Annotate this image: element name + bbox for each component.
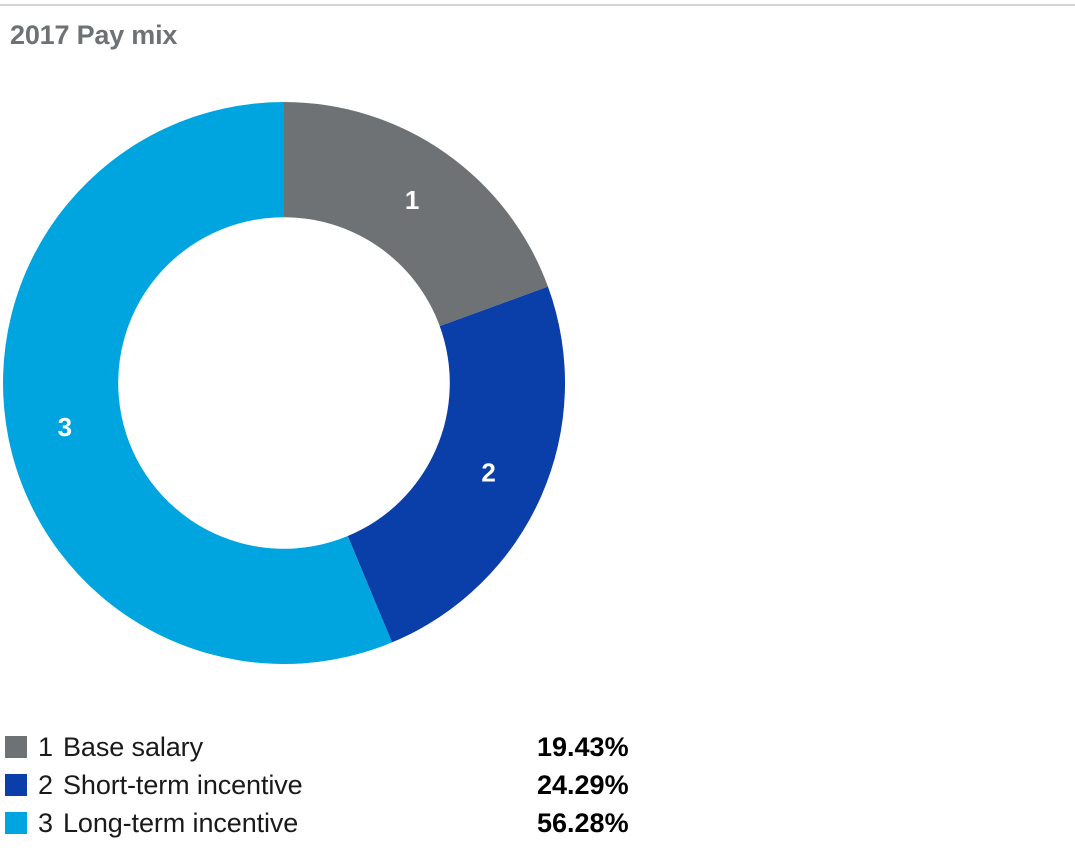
donut-slice-label-1: 1	[405, 185, 419, 215]
legend-value-long-term-incentive: 56.28%	[537, 804, 629, 842]
legend-swatch-long-term-incentive	[5, 812, 27, 834]
legend-index-2: 2	[38, 766, 53, 804]
legend-label-base-salary: Base salary	[63, 728, 203, 766]
legend-swatch-base-salary	[5, 736, 27, 758]
donut-slice-short-term-incentive[interactable]	[348, 287, 565, 643]
donut-slice-label-3: 3	[58, 412, 72, 442]
legend-label-long-term-incentive: Long-term incentive	[63, 804, 298, 842]
legend-label-short-term-incentive: Short-term incentive	[63, 766, 303, 804]
page-title: 2017 Pay mix	[10, 20, 177, 51]
legend-value-base-salary: 19.43%	[537, 728, 629, 766]
legend-swatch-short-term-incentive	[5, 774, 27, 796]
donut-slice-label-2: 2	[481, 458, 495, 488]
header-divider	[0, 4, 1075, 6]
donut-slices	[3, 102, 565, 664]
legend-index-3: 3	[38, 804, 53, 842]
pay-mix-donut-chart: 1 2 3	[3, 102, 565, 664]
legend-item-long-term-incentive[interactable]: 3 Long-term incentive 56.28%	[5, 804, 705, 842]
donut-svg: 1 2 3	[3, 102, 565, 664]
chart-legend: 1 Base salary 19.43% 2 Short-term incent…	[5, 728, 705, 842]
legend-item-short-term-incentive[interactable]: 2 Short-term incentive 24.29%	[5, 766, 705, 804]
legend-value-short-term-incentive: 24.29%	[537, 766, 629, 804]
legend-index-1: 1	[38, 728, 53, 766]
legend-item-base-salary[interactable]: 1 Base salary 19.43%	[5, 728, 705, 766]
